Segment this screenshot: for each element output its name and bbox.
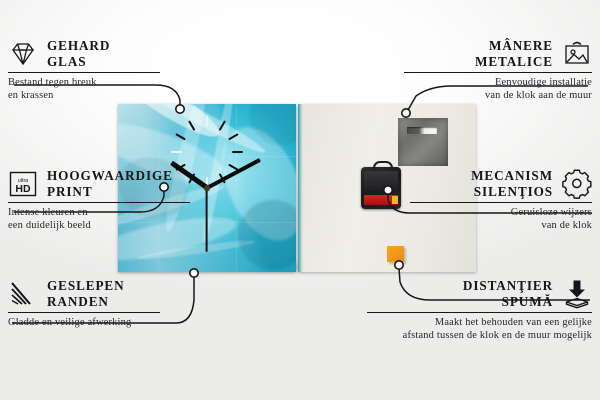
feature-rule xyxy=(367,312,592,313)
feature-subtitle: Maakt het behouden van een gelijke afsta… xyxy=(357,317,592,342)
feature-geslepen-randen: GESLEPEN RANDEN Gladde en veilige afwerk… xyxy=(8,278,243,330)
infographic-canvas: GEHARD GLAS Bestand tegen breuk en krass… xyxy=(0,0,600,400)
feature-subtitle: Gladde en veilige afwerking xyxy=(8,317,243,330)
feature-subtitle: Eenvoudige installatie van de klok aan d… xyxy=(357,77,592,102)
feature-subtitle: Geruisloze wijzers van de klok xyxy=(357,207,592,232)
feature-rule xyxy=(8,202,190,203)
glass-edge xyxy=(298,104,303,272)
feature-title: DISTANŢIER SPUMĂ xyxy=(463,278,553,309)
metal-hanger-plate xyxy=(398,118,448,166)
gear-icon xyxy=(562,169,592,199)
feature-subtitle: Intense kleuren en een duidelijk beeld xyxy=(8,207,243,232)
feature-rule xyxy=(410,202,592,203)
foam-spacer xyxy=(387,246,404,262)
feature-distantier-spuma: DISTANŢIER SPUMĂ Maakt het behouden van … xyxy=(357,278,592,343)
feature-header: GEHARD GLAS xyxy=(8,38,243,69)
feature-rule xyxy=(8,312,160,313)
feature-hoogwaardige-print: ultra HD HOOGWAARDIGE PRINT Intense kleu… xyxy=(8,168,243,233)
feature-header: DISTANŢIER SPUMĂ xyxy=(357,278,592,309)
feature-rule xyxy=(8,72,160,73)
feature-manere-metalice: MÂNERE METALICE Eenvoudige installatie v… xyxy=(357,38,592,103)
picture-hanger-icon xyxy=(562,39,592,69)
spacer-arrow-icon xyxy=(562,279,592,309)
feature-rule xyxy=(404,72,592,73)
feature-title: HOOGWAARDIGE PRINT xyxy=(47,168,173,199)
feature-title: MÂNERE METALICE xyxy=(475,38,553,69)
feature-header: ultra HD HOOGWAARDIGE PRINT xyxy=(8,168,243,199)
hanger-keyhole-slot xyxy=(407,127,437,134)
ultra-hd-icon: ultra HD xyxy=(8,169,38,199)
feature-subtitle: Bestand tegen breuk en krassen xyxy=(8,77,243,102)
svg-text:HD: HD xyxy=(15,183,31,195)
feature-header: MÂNERE METALICE xyxy=(357,38,592,69)
feature-header: GESLEPEN RANDEN xyxy=(8,278,243,309)
feature-title: GESLEPEN RANDEN xyxy=(47,278,125,309)
feature-gehard-glas: GEHARD GLAS Bestand tegen breuk en krass… xyxy=(8,38,243,103)
diamond-icon xyxy=(8,39,38,69)
bevelled-edges-icon xyxy=(8,279,38,309)
feature-mecanism-silentios: MECANISM SILENŢIOS Geruisloze wijzers va… xyxy=(357,168,592,233)
feature-title: MECANISM SILENŢIOS xyxy=(471,168,553,199)
feature-title: GEHARD GLAS xyxy=(47,38,110,69)
feature-header: MECANISM SILENŢIOS xyxy=(357,168,592,199)
